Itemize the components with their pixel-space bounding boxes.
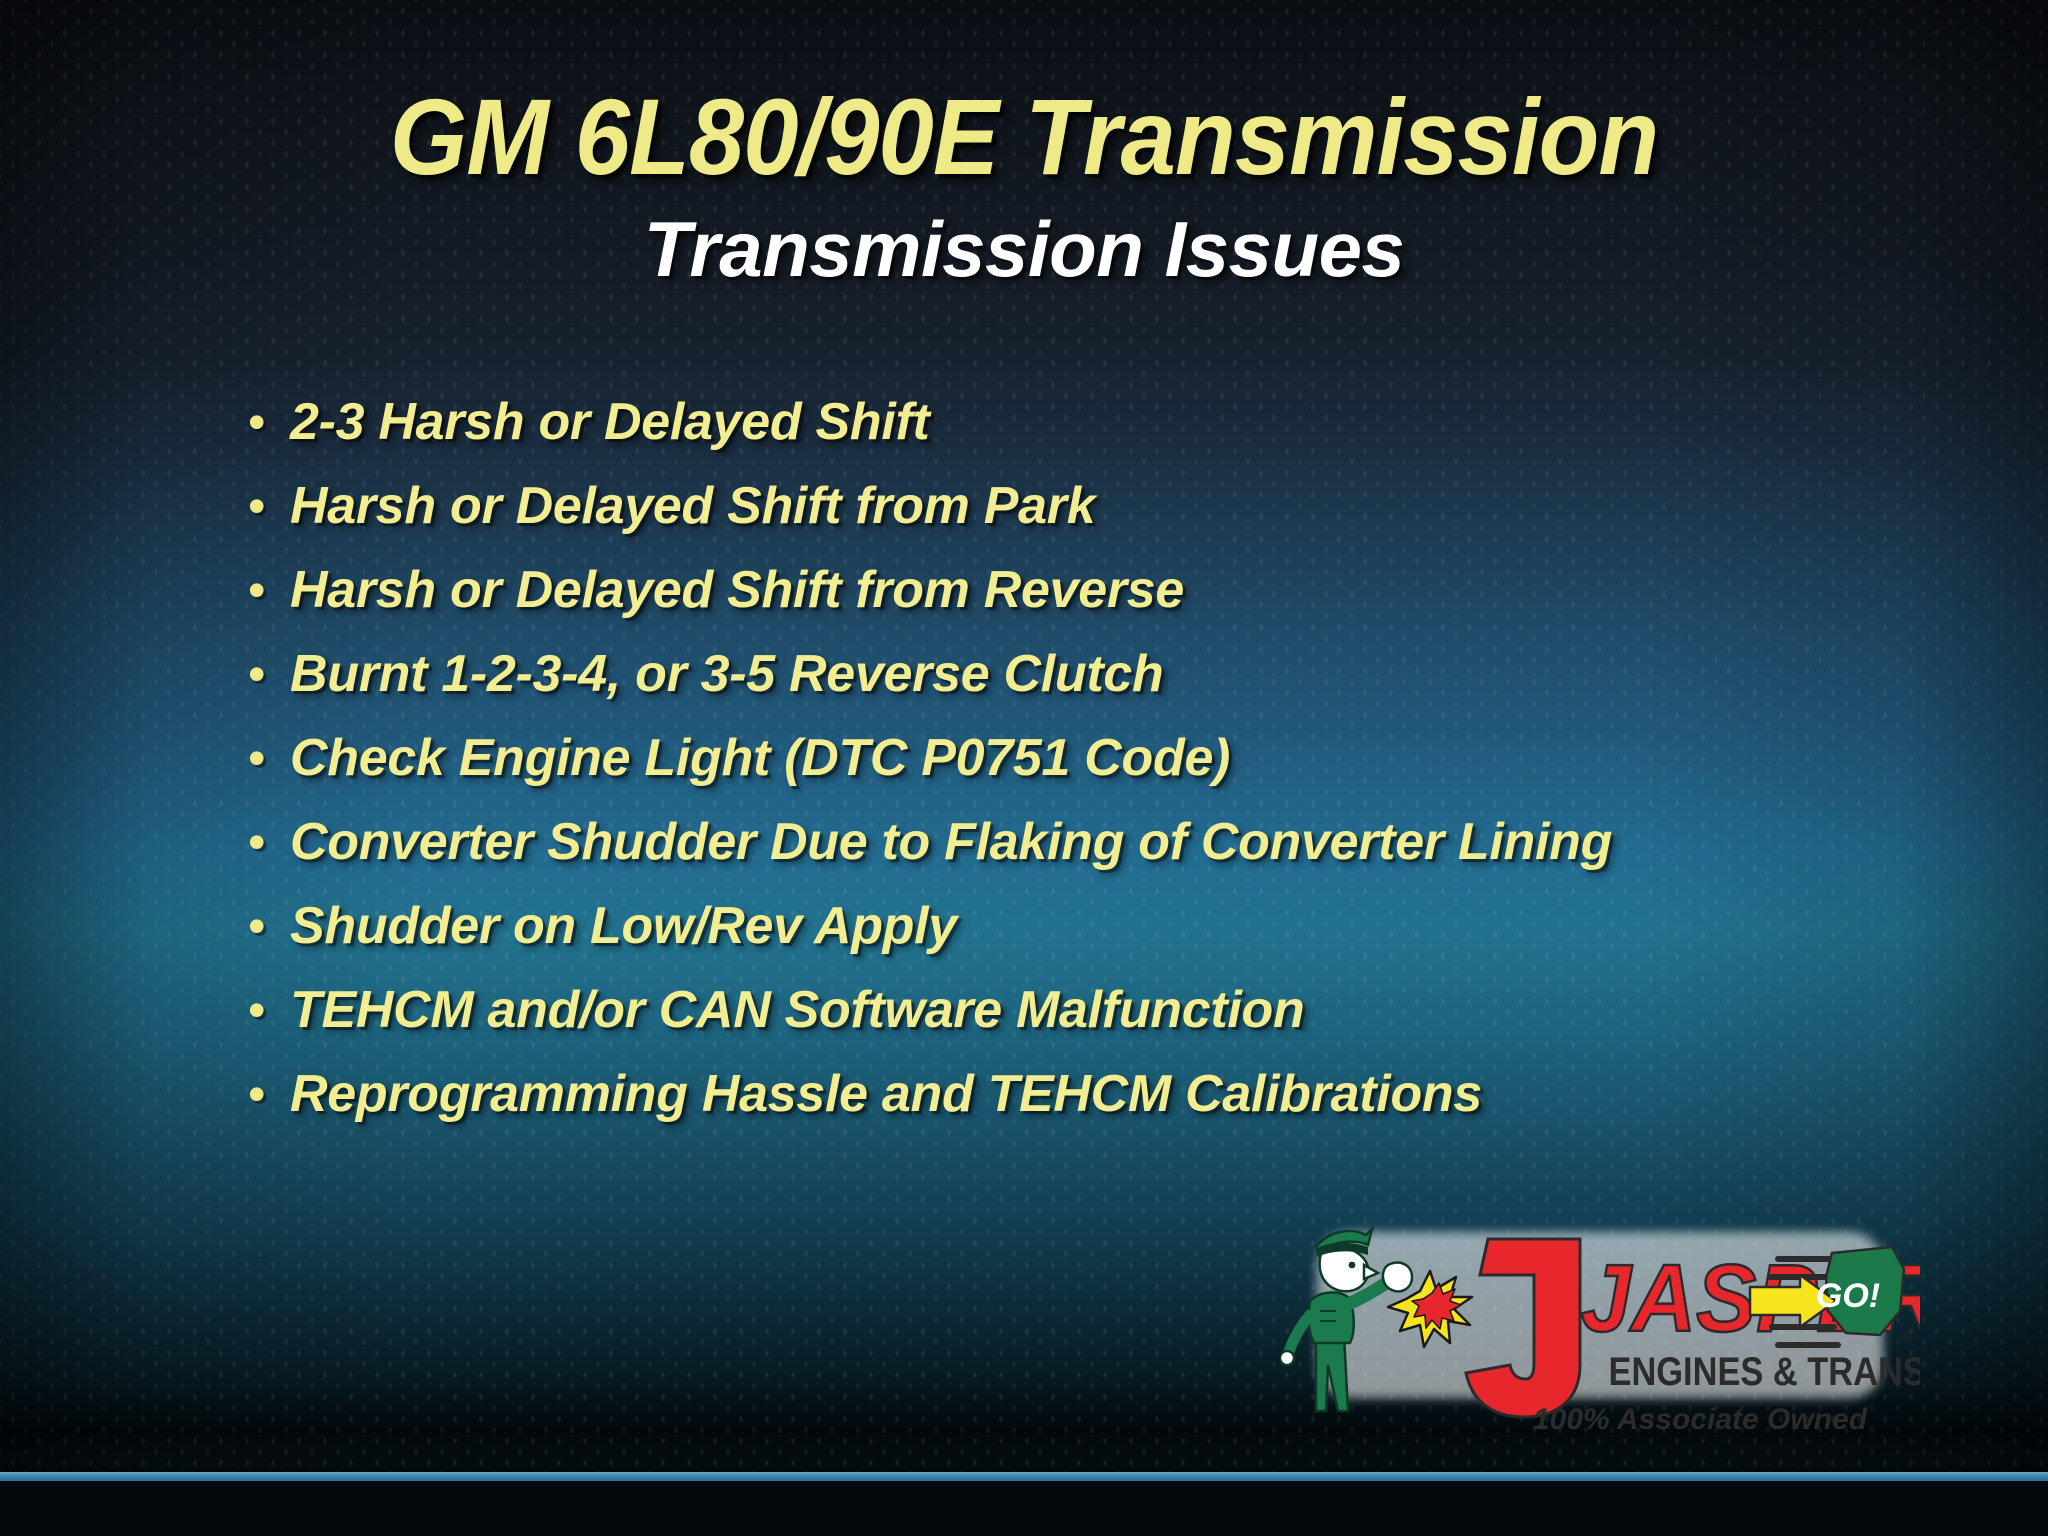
list-item-label: Reprogramming Hassle and TEHCM Calibrati… (290, 1064, 1482, 1124)
list-item-label: Check Engine Light (DTC P0751 Code) (290, 728, 1230, 788)
list-item: • Converter Shudder Due to Flaking of Co… (248, 812, 2008, 896)
jasper-logo: JASPER GO! ® ENGINES & TRANSMISSIONS 100… (1280, 1215, 1920, 1445)
list-item: • Check Engine Light (DTC P0751 Code) (248, 728, 2008, 812)
bullet-marker-icon: • (248, 565, 290, 615)
svg-text:GO!: GO! (1816, 1277, 1880, 1315)
logo-tagline: ENGINES & TRANSMISSIONS (1609, 1349, 1920, 1394)
slide-canvas: GM 6L80/90E Transmission Transmission Is… (0, 0, 2048, 1536)
bullet-marker-icon: • (248, 817, 290, 867)
bullet-marker-icon: • (248, 649, 290, 699)
svg-text:®: ® (1902, 1328, 1913, 1344)
list-item: • Reprogramming Hassle and TEHCM Calibra… (248, 1064, 2008, 1148)
logo-ownership-text: 100% Associate Owned (1533, 1403, 1868, 1436)
page-subtitle: Transmission Issues (0, 204, 2048, 295)
list-item: • Harsh or Delayed Shift from Park (248, 476, 2008, 560)
bottom-accent-bar (0, 1472, 2048, 1481)
list-item: • Shudder on Low/Rev Apply (248, 896, 2008, 980)
bullet-marker-icon: • (248, 1069, 290, 1119)
list-item: • 2-3 Harsh or Delayed Shift (248, 392, 2008, 476)
list-item-label: Converter Shudder Due to Flaking of Conv… (290, 812, 1612, 872)
bullet-marker-icon: • (248, 397, 290, 447)
bullet-marker-icon: • (248, 901, 290, 951)
list-item: • TEHCM and/or CAN Software Malfunction (248, 980, 2008, 1064)
list-item: • Harsh or Delayed Shift from Reverse (248, 560, 2008, 644)
bottom-footer-area (0, 1481, 2048, 1536)
bullet-marker-icon: • (248, 733, 290, 783)
list-item: • Burnt 1-2-3-4, or 3-5 Reverse Clutch (248, 644, 2008, 728)
list-item-label: Burnt 1-2-3-4, or 3-5 Reverse Clutch (290, 644, 1163, 704)
issues-bullet-list: • 2-3 Harsh or Delayed Shift • Harsh or … (248, 392, 2008, 1148)
title-block: GM 6L80/90E Transmission Transmission Is… (0, 82, 2048, 295)
list-item-label: Harsh or Delayed Shift from Park (290, 476, 1095, 536)
list-item-label: 2-3 Harsh or Delayed Shift (290, 392, 930, 452)
list-item-label: TEHCM and/or CAN Software Malfunction (290, 980, 1304, 1040)
list-item-label: Shudder on Low/Rev Apply (290, 896, 957, 956)
bullet-marker-icon: • (248, 985, 290, 1035)
page-title: GM 6L80/90E Transmission (82, 82, 1966, 192)
list-item-label: Harsh or Delayed Shift from Reverse (290, 560, 1184, 620)
bullet-marker-icon: • (248, 481, 290, 531)
